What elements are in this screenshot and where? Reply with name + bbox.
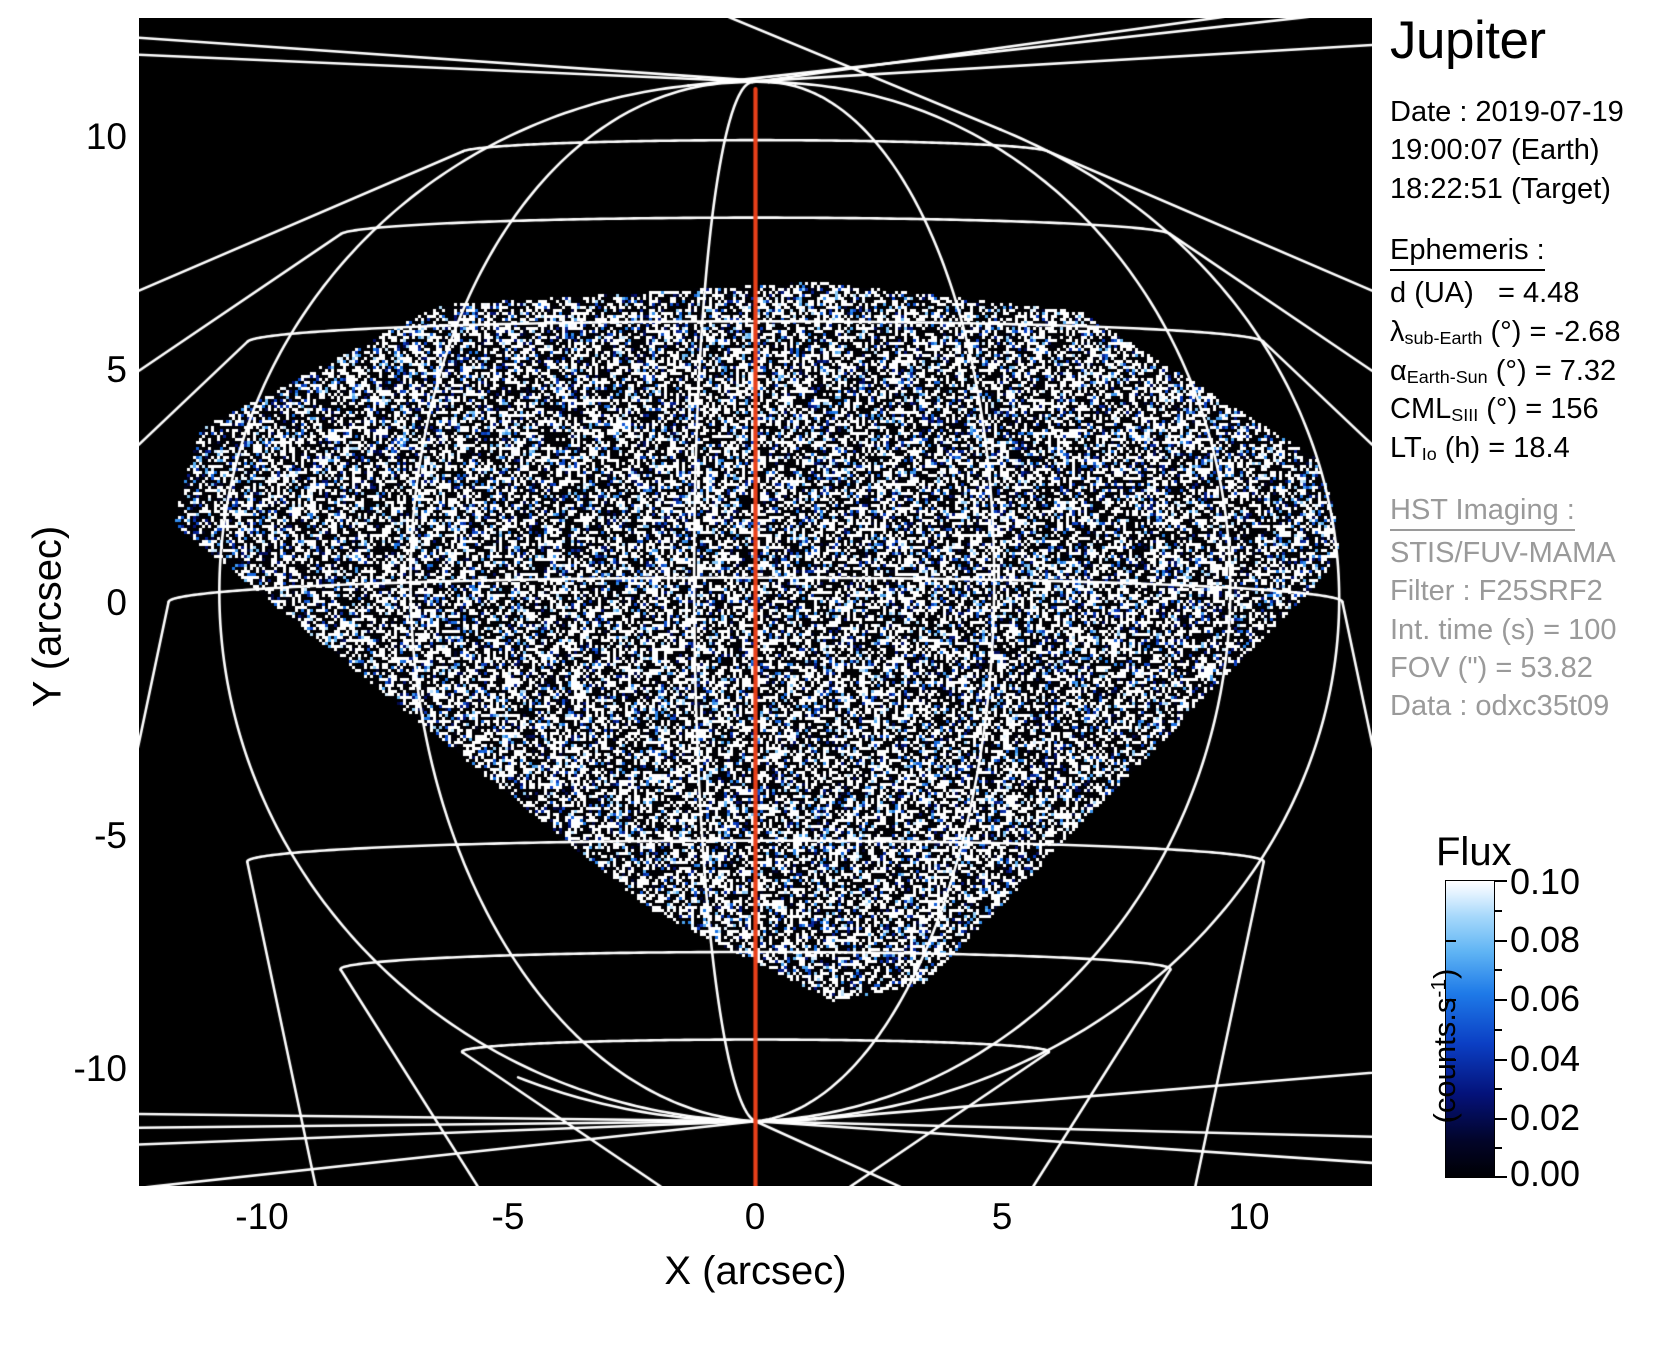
colorbar-group: Flux (counts.s-1) 0.10 0.08 0.06 0.04 0.… [1390,832,1676,1178]
colorbar-tick-label: 0.10 [1510,861,1580,903]
colorbar-unit-label: (counts.s-1) [1427,916,1463,1176]
ephemeris-row-alpha: αEarth-Sun (°) = 7.32 [1390,352,1676,391]
ephemeris-unit-d: (UA) [1414,277,1474,309]
colorbar-tick-label: 0.04 [1510,1038,1580,1080]
instrument-data-id: Data : odxc35t09 [1390,687,1676,725]
colorbar-tick-label: 0.00 [1510,1153,1580,1195]
colorbar-unit-exponent: -1 [1428,979,1451,998]
colorbar-unit-base: (counts.s [1427,998,1462,1124]
observation-time-target: 18:22:51 (Target) [1390,170,1676,208]
ephemeris-value-lambda: = -2.68 [1529,316,1620,348]
ephemeris-sub-lambda: sub-Earth [1405,328,1483,348]
ephemeris-symbol-alpha: α [1390,352,1407,391]
colorbar-inner-tick [1446,940,1456,942]
y-axis-title: Y (arcsec) [26,387,71,847]
info-panel: Jupiter Date : 2019-07-19 19:00:07 (Eart… [1390,0,1676,725]
ephemeris-heading-wrap: Ephemeris : [1390,234,1676,274]
colorbar-minor-tick [1495,1147,1502,1149]
ephemeris-unit-lambda: (°) [1490,316,1521,348]
ephemeris-row-d: d (UA) = 4.48 [1390,274,1676,313]
colorbar-minor-tick [1495,969,1502,971]
colorbar-unit-close: ) [1427,969,1462,979]
colorbar-inner-tick [1446,999,1456,1001]
colorbar-tick [1495,999,1507,1001]
instrument-heading-wrap: HST Imaging : [1390,494,1676,534]
ephemeris-value-lt: = 18.4 [1488,432,1569,464]
colorbar-tick [1495,940,1507,942]
colorbar: (counts.s-1) 0.10 0.08 0.06 0.04 0.02 0.… [1390,880,1676,1178]
colorbar-tick [1495,1176,1507,1178]
colorbar-tick-label: 0.08 [1510,919,1580,961]
colorbar-minor-tick [1495,1029,1502,1031]
ephemeris-row-cml: CMLSIII (°) = 156 [1390,390,1676,429]
ephemeris-symbol-lambda: λ [1390,313,1405,352]
ytick-label: -10 [74,1050,127,1087]
xtick-label: 0 [745,1196,766,1238]
ytick-label: 10 [86,118,127,155]
instrument-detector: STIS/FUV-MAMA [1390,534,1676,572]
ephemeris-unit-cml: (°) [1486,393,1517,425]
ephemeris-sub-alpha: Earth-Sun [1407,367,1488,387]
image-plot-area[interactable] [139,18,1372,1186]
ephemeris-sub-lt: Io [1422,444,1437,464]
colorbar-tick-label: 0.02 [1510,1097,1580,1139]
colorbar-inner-tick [1446,1118,1456,1120]
colorbar-minor-tick [1495,910,1502,912]
ephemeris-heading: Ephemeris : [1390,234,1545,271]
ephemeris-unit-lt: (h) [1445,432,1480,464]
instrument-heading: HST Imaging : [1390,494,1575,531]
instrument-fov: FOV (") = 53.82 [1390,649,1676,687]
ytick-label: 0 [106,584,127,621]
ephemeris-sub-cml: SIII [1451,406,1478,426]
colorbar-tick [1495,1118,1507,1120]
instrument-filter: Filter : F25SRF2 [1390,572,1676,610]
xtick-label: -10 [235,1196,288,1238]
colorbar-tick-label: 0.06 [1510,978,1580,1020]
observation-time-earth: 19:00:07 (Earth) [1390,131,1676,169]
xtick-label: 5 [992,1196,1013,1238]
jupiter-aurora-image [139,18,1372,1186]
ephemeris-row-lambda: λsub-Earth (°) = -2.68 [1390,313,1676,352]
ephemeris-value-cml: = 156 [1525,393,1598,425]
colorbar-tick [1495,1059,1507,1061]
observation-date: Date : 2019-07-19 [1390,93,1676,131]
ephemeris-symbol-lt: LT [1390,429,1422,468]
xtick-label: 10 [1228,1196,1269,1238]
ephemeris-unit-alpha: (°) [1496,355,1527,387]
ytick-label: -5 [94,817,127,854]
ephemeris-value-alpha: = 7.32 [1535,355,1616,387]
ephemeris-row-lt: LTIo (h) = 18.4 [1390,429,1676,468]
page-title: Jupiter [1390,14,1676,67]
colorbar-tick [1495,880,1507,882]
ephemeris-value-d: = 4.48 [1498,277,1579,309]
ytick-label: 5 [106,351,127,388]
ephemeris-symbol-d: d [1390,274,1406,313]
instrument-int-time: Int. time (s) = 100 [1390,611,1676,649]
ephemeris-symbol-cml: CML [1390,390,1451,429]
colorbar-minor-tick [1495,1088,1502,1090]
xtick-label: -5 [492,1196,525,1238]
x-axis-title: X (arcsec) [139,1249,1372,1294]
colorbar-inner-tick [1446,1059,1456,1061]
